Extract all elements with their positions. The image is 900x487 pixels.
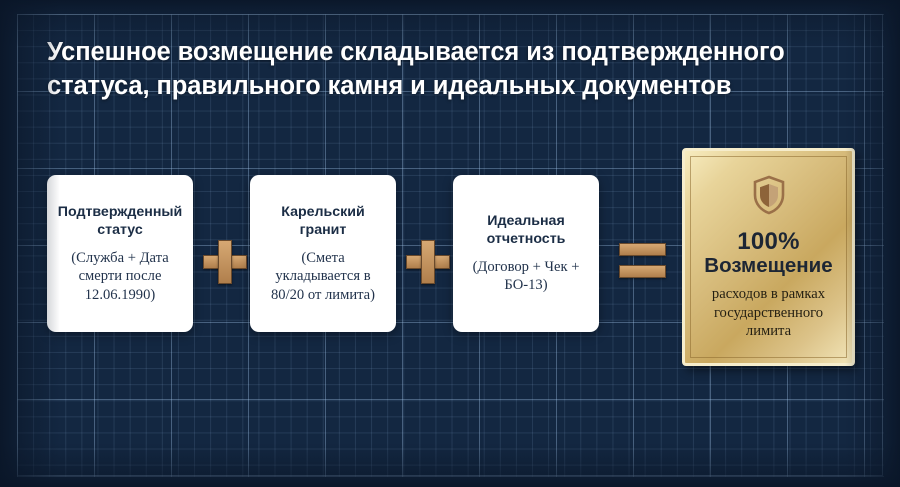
condition-card-3: Идеальная отчетность (Договор + Чек + БО… — [453, 175, 599, 332]
equals-icon-bar-top — [619, 243, 666, 256]
condition-card-2-title: Карельский гранит — [259, 203, 387, 240]
page-title-line-1: Успешное возмещение складывается из подт… — [47, 36, 847, 70]
condition-card-1-subtitle: (Служба + Дата смерти после 12.06.1990) — [56, 249, 184, 305]
plus-icon — [406, 240, 450, 284]
shield-icon — [752, 175, 786, 215]
condition-card-2: Карельский гранит (Смета укладывается в … — [250, 175, 396, 332]
plus-icon — [203, 240, 247, 284]
result-percent: 100% — [737, 229, 800, 255]
condition-card-1-title: Подтвержденный статус — [56, 203, 184, 240]
result-panel-inner: 100% Возмещение расходов в рамках госуда… — [690, 156, 847, 358]
plus-icon-bar-vertical — [421, 240, 435, 284]
condition-card-3-subtitle: (Договор + Чек + БО-13) — [462, 258, 590, 295]
slide-canvas: Успешное возмещение складывается из подт… — [0, 0, 900, 487]
condition-card-1: Подтвержденный статус (Служба + Дата сме… — [47, 175, 193, 332]
result-headline: Возмещение — [704, 255, 832, 278]
plus-icon-bar-vertical — [218, 240, 232, 284]
page-title-line-2: статуса, правильного камня и идеальных д… — [47, 70, 847, 104]
formula-flow-row: Подтвержденный статус (Служба + Дата сме… — [0, 140, 900, 380]
equals-icon-bar-bottom — [619, 265, 666, 278]
equals-icon — [619, 243, 666, 278]
condition-card-3-title: Идеальная отчетность — [462, 212, 590, 249]
result-panel: 100% Возмещение расходов в рамках госуда… — [682, 148, 855, 366]
result-subtitle: расходов в рамках государственного лимит… — [691, 285, 846, 341]
page-title: Успешное возмещение складывается из подт… — [47, 36, 847, 104]
condition-card-2-subtitle: (Смета укладывается в 80/20 от лимита) — [259, 249, 387, 305]
